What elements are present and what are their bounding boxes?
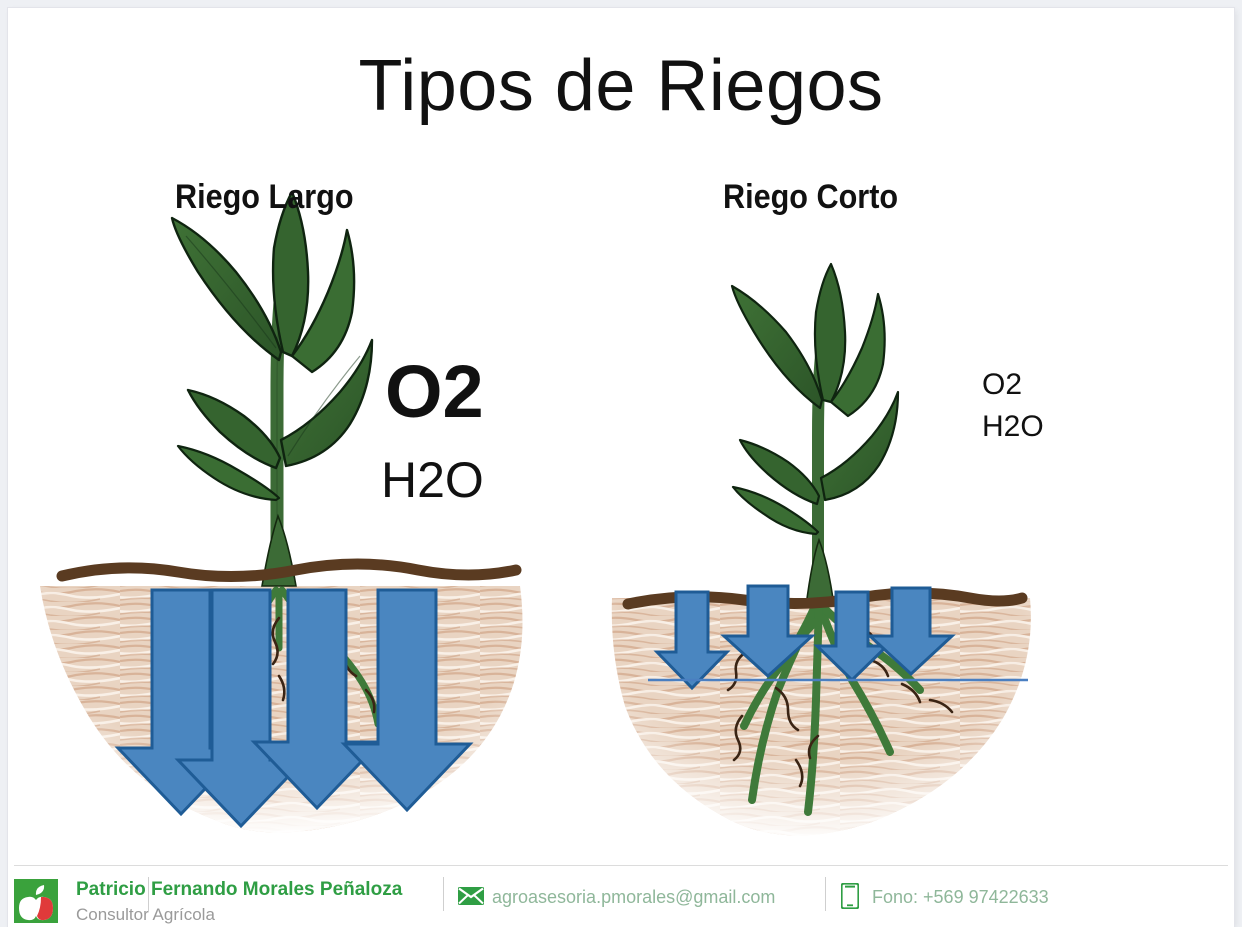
left-plant (172, 192, 372, 586)
right-column-heading: Riego Corto (723, 178, 898, 217)
footer-bar: Patricio Fernando Morales Peñaloza Consu… (0, 865, 1242, 927)
left-surface-line (62, 564, 516, 577)
right-gas-secondary-label: H2O (982, 412, 1044, 442)
right-gas-primary-label: O2 (982, 370, 1022, 400)
footer-phone: Fono: +569 97422633 (872, 887, 1049, 908)
left-soil (30, 580, 540, 840)
page-title: Tipos de Riegos (0, 50, 1242, 122)
left-scene (30, 192, 540, 840)
footer-separator-2 (443, 877, 444, 911)
left-gas-secondary-label: H2O (381, 455, 484, 505)
apple-leaf-logo (14, 879, 58, 923)
footer-contact-role: Consultor Agrícola (76, 905, 215, 925)
right-scene (600, 264, 1040, 854)
footer-divider (14, 865, 1228, 866)
right-plant (732, 264, 898, 606)
irrigation-diagram (0, 0, 1242, 927)
mobile-phone-icon (841, 883, 859, 914)
left-gas-primary-label: O2 (385, 355, 484, 429)
slide-container: Tipos de Riegos Riego Largo Riego Corto … (0, 0, 1242, 927)
envelope-icon (458, 887, 484, 910)
footer-separator-3 (825, 877, 826, 911)
footer-email[interactable]: agroasesoria.pmorales@gmail.com (492, 887, 775, 908)
left-column-heading: Riego Largo (175, 178, 354, 217)
footer-contact-name: Patricio Fernando Morales Peñaloza (76, 879, 402, 901)
